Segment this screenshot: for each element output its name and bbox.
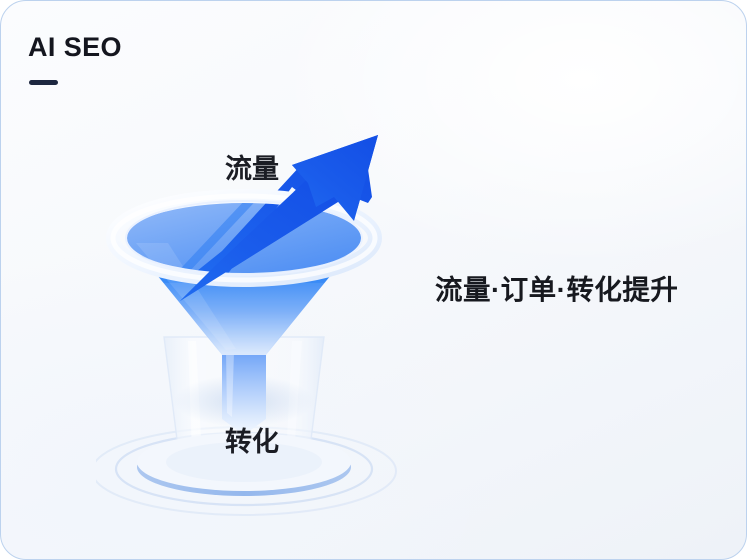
title-underline-rule	[29, 80, 58, 85]
tagline-text: 流量·订单·转化提升	[435, 276, 678, 304]
funnel-label-traffic: 流量	[225, 156, 279, 183]
page-title: AI SEO	[28, 34, 122, 61]
funnel-label-conversion: 转化	[225, 429, 279, 456]
seo-funnel-card: AI SEO 流量·订单·转化提升	[0, 0, 747, 560]
funnel-stem	[222, 351, 266, 435]
